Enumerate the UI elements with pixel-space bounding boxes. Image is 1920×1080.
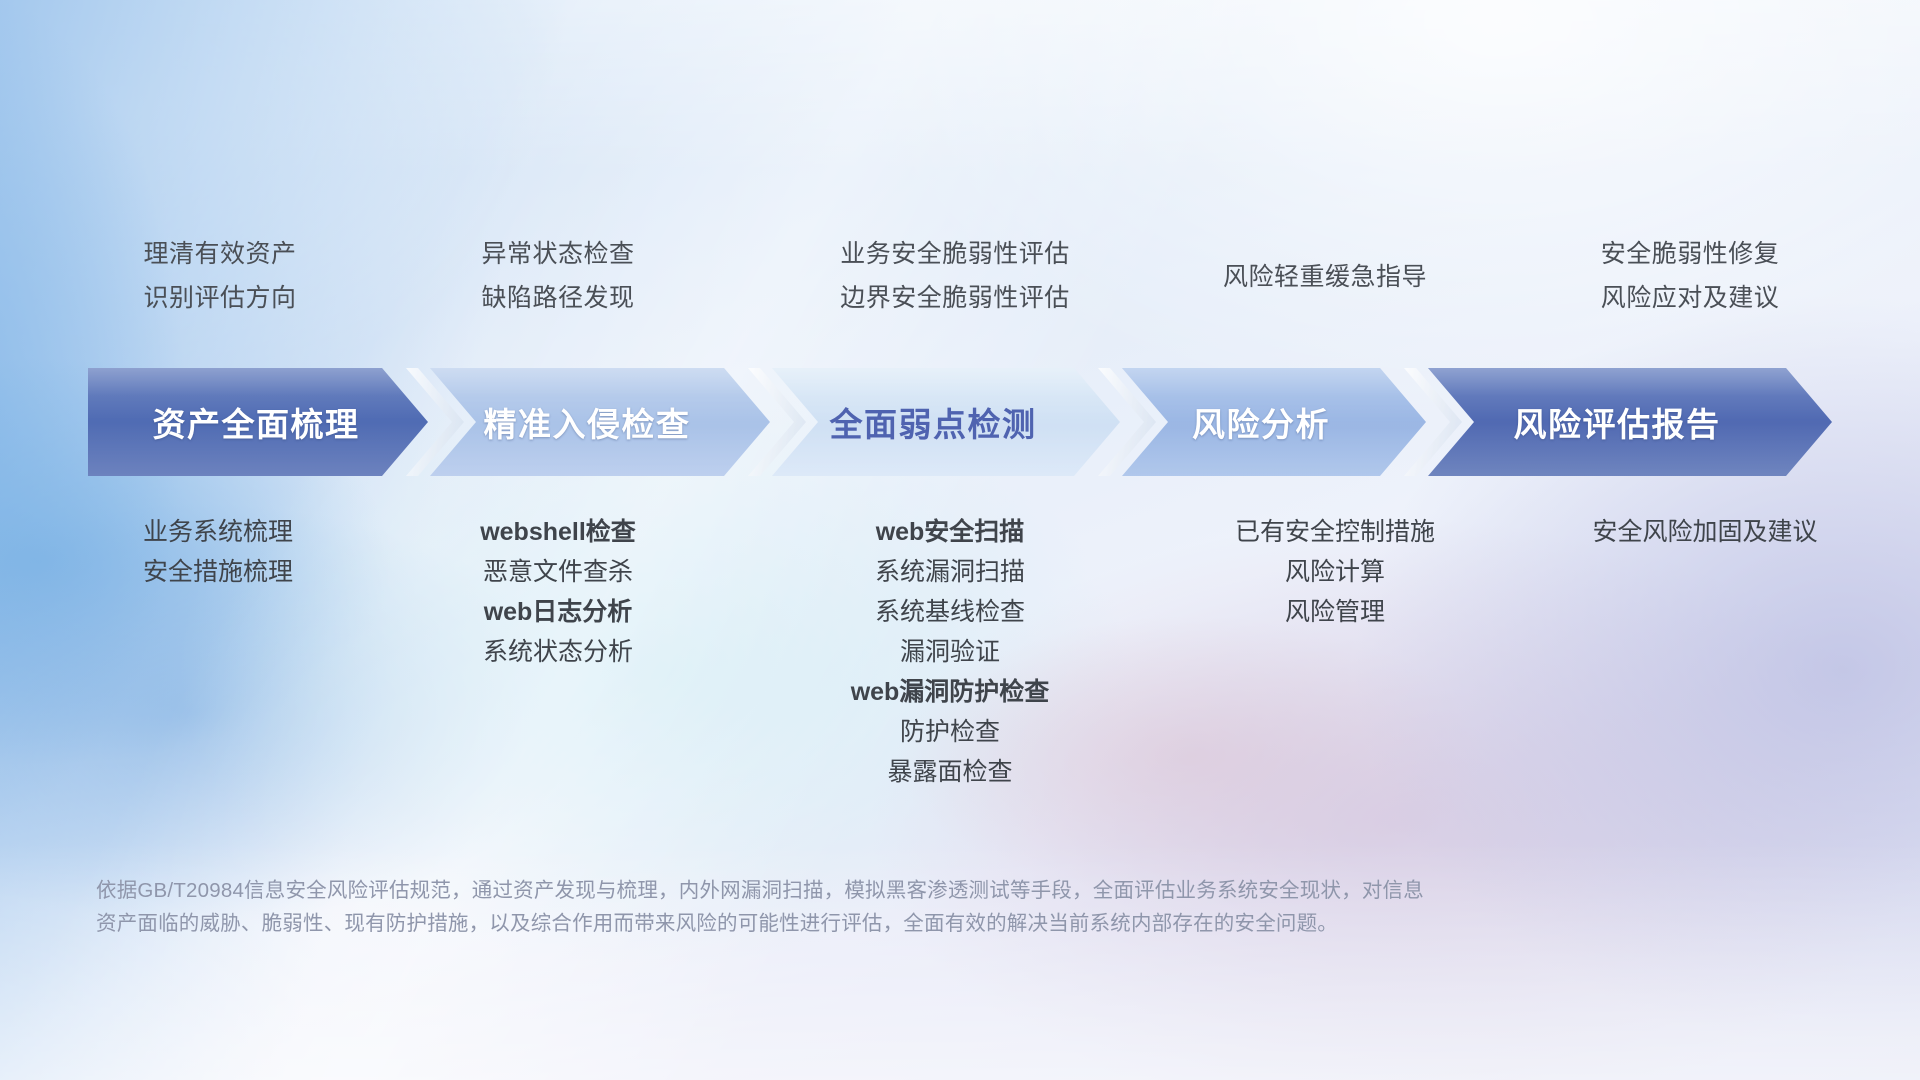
stage-items-weakness-detection: web安全扫描 系统漏洞扫描 系统基线检查 漏洞验证 web漏洞防护检查 防护检… <box>770 512 1130 792</box>
stage-title: 风险分析 <box>1192 398 1330 446</box>
top-note: 识别评估方向 <box>60 276 380 320</box>
stage-chevron-asset-inventory[interactable]: 资产全面梳理 <box>88 368 428 476</box>
stage-items-intrusion-check: webshell检查 恶意文件查杀 web日志分析 系统状态分析 <box>398 512 718 672</box>
top-note: 安全脆弱性修复 <box>1525 232 1855 276</box>
stage-title: 风险评估报告 <box>1514 398 1721 446</box>
list-item: 安全风险加固及建议 <box>1505 512 1905 552</box>
stage-chevron-weakness-detection[interactable]: 全面弱点检测 <box>726 368 1120 476</box>
stage-chevron-risk-report[interactable]: 风险评估报告 <box>1382 368 1832 476</box>
footer-description: 依据GB/T20984信息安全风险评估规范，通过资产发现与梳理，内外网漏洞扫描，… <box>96 874 1816 940</box>
list-item: 防护检查 <box>770 712 1130 752</box>
stage-items-risk-report: 安全风险加固及建议 <box>1505 512 1905 552</box>
stage-items-asset-inventory: 业务系统梳理 安全措施梳理 <box>48 512 388 592</box>
stage-title: 资产全面梳理 <box>153 398 360 446</box>
process-diagram: 理清有效资产 识别评估方向 异常状态检查 缺陷路径发现 业务安全脆弱性评估 边界… <box>0 0 1920 1080</box>
top-note: 风险轻重缓急指导 <box>1160 255 1490 299</box>
list-item: 恶意文件查杀 <box>398 552 718 592</box>
list-item: 业务系统梳理 <box>48 512 388 552</box>
list-item: 安全措施梳理 <box>48 552 388 592</box>
stage-title: 精准入侵检查 <box>484 398 691 446</box>
stage-title: 全面弱点检测 <box>830 398 1037 446</box>
stage-items-risk-analysis: 已有安全控制措施 风险计算 风险管理 <box>1145 512 1525 632</box>
top-notes-risk-analysis: 风险轻重缓急指导 <box>1160 255 1490 299</box>
list-item: 已有安全控制措施 <box>1145 512 1525 552</box>
top-notes-asset-inventory: 理清有效资产 识别评估方向 <box>60 232 380 320</box>
top-note: 边界安全脆弱性评估 <box>770 276 1140 320</box>
top-note: 异常状态检查 <box>408 232 708 276</box>
list-item: 风险管理 <box>1145 592 1525 632</box>
list-item: 系统状态分析 <box>398 632 718 672</box>
top-notes-risk-report: 安全脆弱性修复 风险应对及建议 <box>1525 232 1855 320</box>
stage-chevron-intrusion-check[interactable]: 精准入侵检查 <box>384 368 770 476</box>
top-notes-intrusion-check: 异常状态检查 缺陷路径发现 <box>408 232 708 320</box>
list-item: 风险计算 <box>1145 552 1525 592</box>
list-item: web漏洞防护检查 <box>770 672 1130 712</box>
top-note: 理清有效资产 <box>60 232 380 276</box>
top-note: 业务安全脆弱性评估 <box>770 232 1140 276</box>
top-notes-weakness-detection: 业务安全脆弱性评估 边界安全脆弱性评估 <box>770 232 1140 320</box>
footer-line: 依据GB/T20984信息安全风险评估规范，通过资产发现与梳理，内外网漏洞扫描，… <box>96 874 1816 907</box>
top-note: 风险应对及建议 <box>1525 276 1855 320</box>
footer-line: 资产面临的威胁、脆弱性、现有防护措施，以及综合作用而带来风险的可能性进行评估，全… <box>96 907 1816 940</box>
stage-chevron-risk-analysis[interactable]: 风险分析 <box>1076 368 1426 476</box>
list-item: web日志分析 <box>398 592 718 632</box>
list-item: 系统基线检查 <box>770 592 1130 632</box>
list-item: 漏洞验证 <box>770 632 1130 672</box>
list-item: web安全扫描 <box>770 512 1130 552</box>
list-item: 系统漏洞扫描 <box>770 552 1130 592</box>
list-item: webshell检查 <box>398 512 718 552</box>
stage-chevron-band: 资产全面梳理 精准入侵检查 全面弱点检测 风险分析 风险评估报告 <box>88 368 1832 476</box>
list-item: 暴露面检查 <box>770 752 1130 792</box>
top-note: 缺陷路径发现 <box>408 276 708 320</box>
